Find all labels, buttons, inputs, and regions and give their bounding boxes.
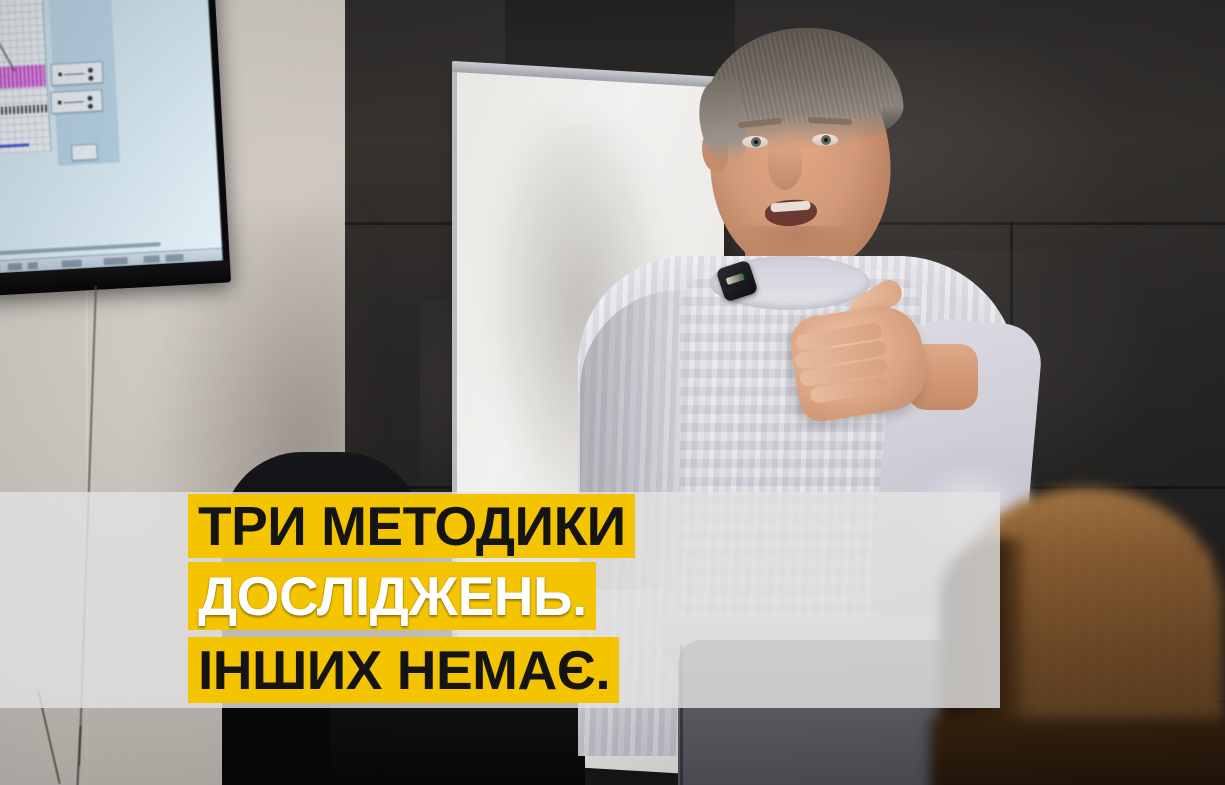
wall-mounted-monitor bbox=[0, 0, 231, 297]
monitor-widget bbox=[51, 61, 104, 86]
plot-panel bbox=[0, 0, 51, 156]
caption-line-1: ТРИ МЕТОДИКИ bbox=[188, 494, 635, 558]
caption-line-2: ДОСЛІДЖЕНЬ. bbox=[188, 562, 596, 630]
video-frame: ТРИ МЕТОДИКИ ДОСЛІДЖЕНЬ. ІНШИХ НЕМАЄ. bbox=[0, 0, 1225, 785]
eye bbox=[742, 136, 768, 148]
monitor-widget bbox=[50, 89, 103, 114]
caption-line-3: ІНШИХ НЕМАЄ. bbox=[188, 637, 619, 703]
foreground-person-shoulder bbox=[930, 718, 1225, 785]
eye bbox=[812, 134, 838, 146]
monitor-screen bbox=[0, 0, 223, 275]
nose bbox=[768, 140, 802, 190]
monitor-widget bbox=[71, 144, 98, 161]
